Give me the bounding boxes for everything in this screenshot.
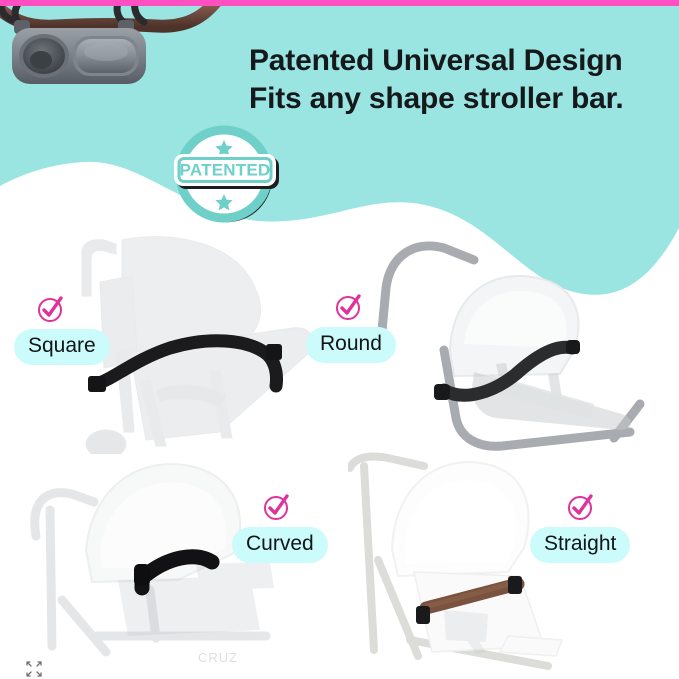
- shape-label-curved: Curved: [232, 527, 328, 563]
- shape-label-square: Square: [14, 329, 110, 365]
- page-title: Patented Universal Design Fits any shape…: [249, 42, 669, 118]
- check-circle-icon: [36, 294, 66, 324]
- headline-line-1: Patented Universal Design: [249, 44, 622, 77]
- check-circle-icon: [334, 292, 364, 322]
- shape-marker-curved: Curved: [232, 492, 328, 563]
- shape-marker-round: Round: [306, 292, 396, 363]
- headline-line-2: Fits any shape stroller bar.: [249, 80, 669, 118]
- shape-marker-square: Square: [14, 294, 110, 365]
- patented-badge-label: PATENTED: [180, 161, 271, 180]
- check-circle-icon: [262, 492, 292, 522]
- top-accent-bar: [0, 0, 679, 6]
- svg-text:CRUZ: CRUZ: [198, 650, 238, 665]
- stroller-photo-round: [378, 232, 679, 454]
- shape-label-straight: Straight: [530, 527, 630, 563]
- shape-marker-straight: Straight: [530, 492, 630, 563]
- check-circle-icon: [566, 492, 596, 522]
- shape-label-round: Round: [306, 327, 396, 363]
- product-image-canvas: Patented Universal Design Fits any shape…: [0, 0, 679, 679]
- patented-badge: PATENTED: [160, 122, 288, 226]
- expand-fullscreen-icon[interactable]: [26, 661, 42, 677]
